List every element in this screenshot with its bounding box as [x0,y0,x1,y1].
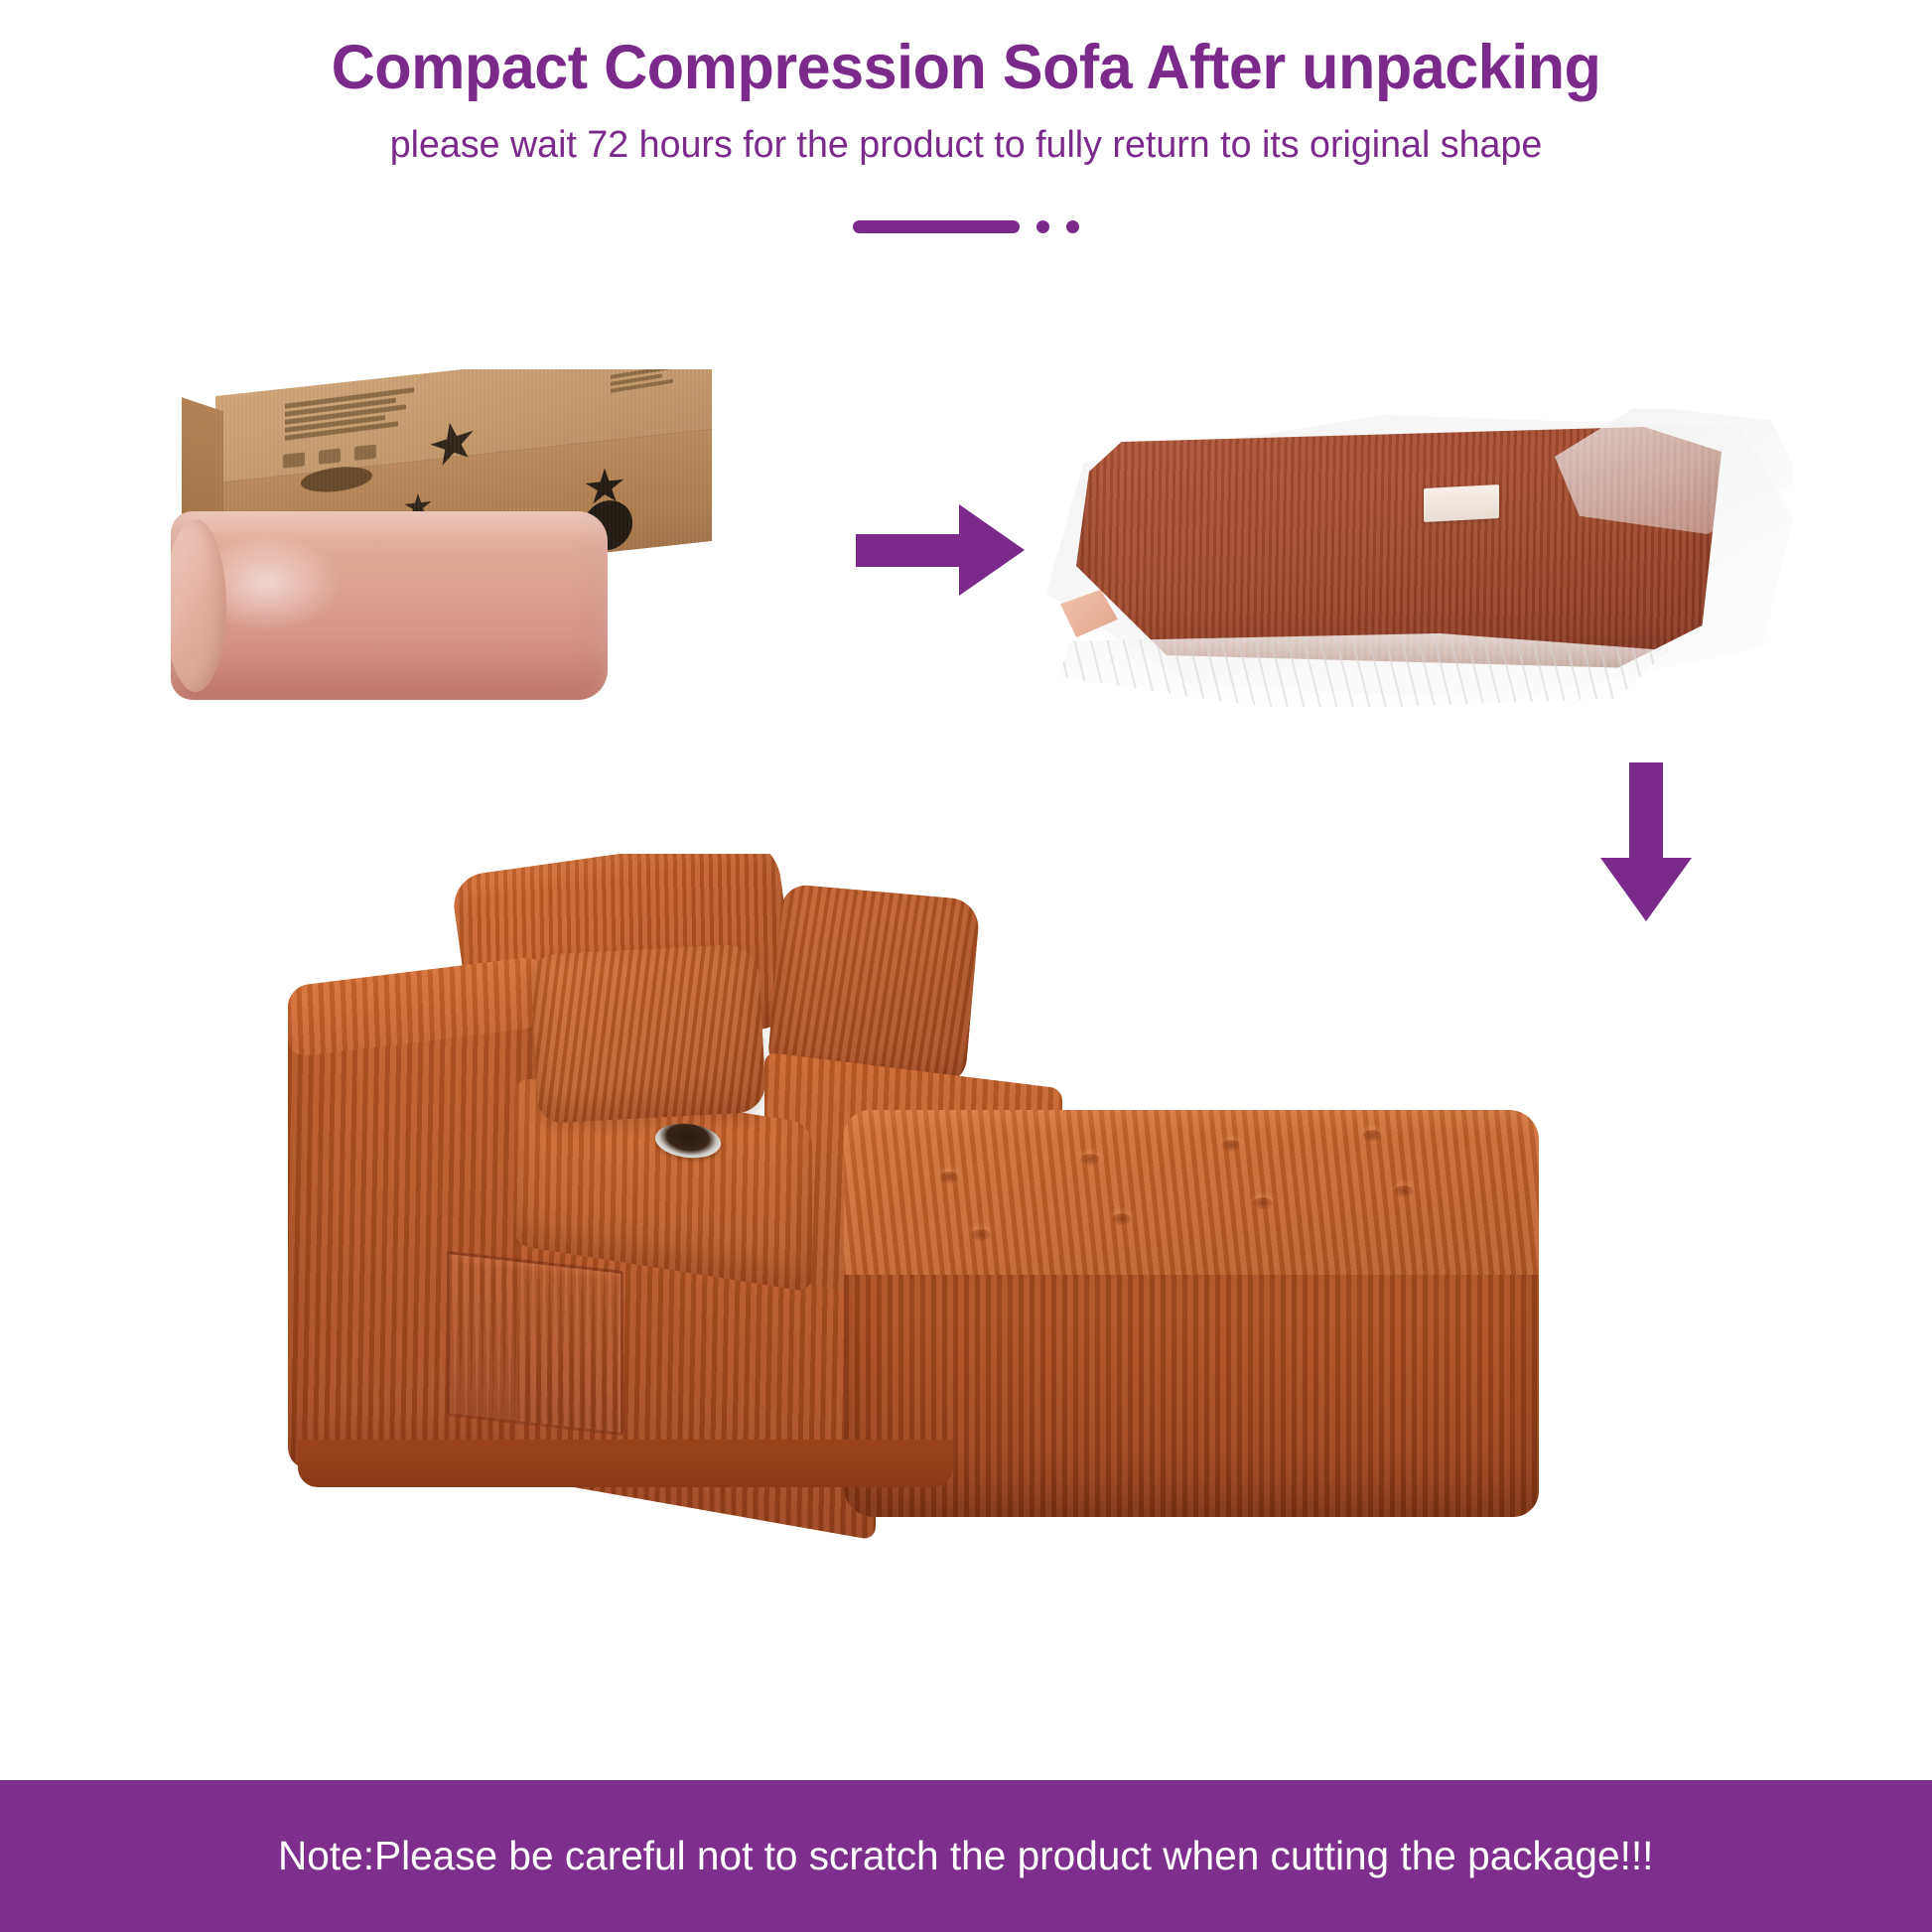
product-label [1424,484,1499,522]
infographic-page: Compact Compression Sofa After unpacking… [0,0,1932,1932]
ottoman-side-panel [844,1275,1539,1517]
roll-end-cap [171,519,226,692]
note-banner-text: Note:Please be careful not to scratch th… [278,1833,1653,1879]
divider-dot-1 [1036,220,1049,233]
tuft-button [939,1172,959,1183]
divider-dot-2 [1066,220,1079,233]
page-title: Compact Compression Sofa After unpacking [29,37,1903,99]
divider-bar [853,220,1020,233]
step-2-vacuum-bag-photo [1038,409,1793,707]
rolled-package [171,511,608,700]
decorative-divider [0,220,1932,233]
accent-pillow [530,943,767,1124]
side-pocket [447,1251,623,1436]
tuft-button [1080,1154,1100,1166]
ottoman-top-surface [844,1110,1539,1299]
arrow-right-icon [856,504,1025,596]
header: Compact Compression Sofa After unpacking… [0,0,1932,166]
step-1-boxed-package-photo [171,369,727,727]
tuft-button [1362,1130,1382,1142]
page-subtitle: please wait 72 hours for the product to … [10,126,1923,166]
plastic-wrap-sheen [171,511,608,700]
tuft-button [1112,1213,1132,1225]
tuft-button [1253,1197,1273,1209]
note-banner: Note:Please be careful not to scratch th… [0,1780,1932,1932]
tuft-button [971,1229,991,1241]
step-3-unpacked-sofa-photo [288,854,1698,1688]
tuft-button [1394,1185,1414,1197]
sofa-base [298,1440,953,1487]
tuft-button [1221,1140,1241,1152]
